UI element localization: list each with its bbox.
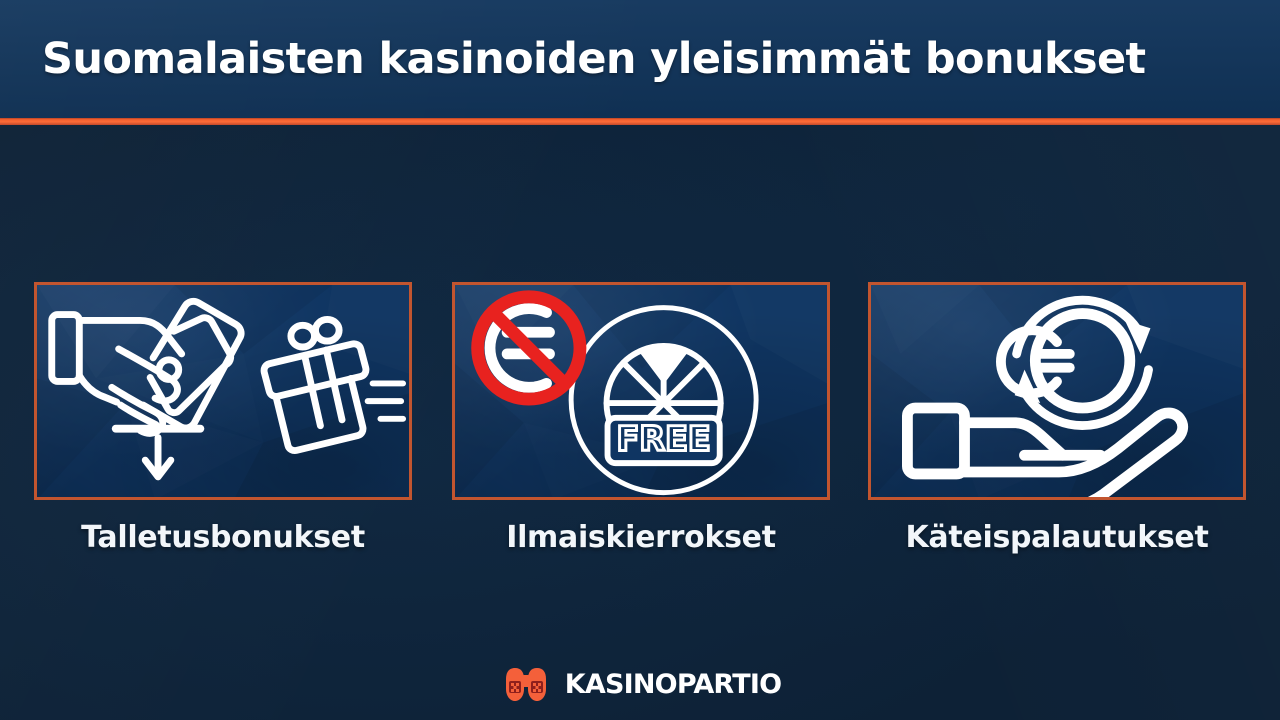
coin-shape <box>159 360 179 380</box>
bonus-card-cashback[interactable] <box>868 282 1246 500</box>
infographic-page: Suomalaisten kasinoiden yleisimmät bonuk… <box>0 0 1280 720</box>
free-spins-illustration: FREE <box>455 285 827 500</box>
header-accent-rule <box>0 118 1280 125</box>
card-label-free-spins: Ilmaiskierrokset <box>452 520 830 555</box>
binoculars-dice-icon <box>499 665 553 703</box>
wheel-free-label: FREE <box>616 419 710 458</box>
brand-wordmark: KASINOPARTIO <box>565 669 781 700</box>
open-hand-shape <box>907 408 1182 500</box>
sleeve-shape <box>52 315 80 382</box>
card-label-cashback: Käteispalautukset <box>868 520 1246 555</box>
no-euro-shape <box>478 297 580 399</box>
header-bar: Suomalaisten kasinoiden yleisimmät bonuk… <box>0 0 1280 118</box>
card-label-deposit: Talletusbonukset <box>34 520 412 555</box>
gift-box-shape <box>264 319 403 450</box>
bonus-card-deposit[interactable] <box>34 282 412 500</box>
page-title: Suomalaisten kasinoiden yleisimmät bonuk… <box>42 34 1146 84</box>
bonus-card-free-spins[interactable]: FREE <box>452 282 830 500</box>
euro-coin-refresh-shape <box>1001 300 1151 425</box>
footer-brand[interactable]: KASINOPARTIO <box>0 660 1280 708</box>
cashback-illustration <box>871 285 1243 500</box>
deposit-bonus-illustration <box>37 285 409 500</box>
